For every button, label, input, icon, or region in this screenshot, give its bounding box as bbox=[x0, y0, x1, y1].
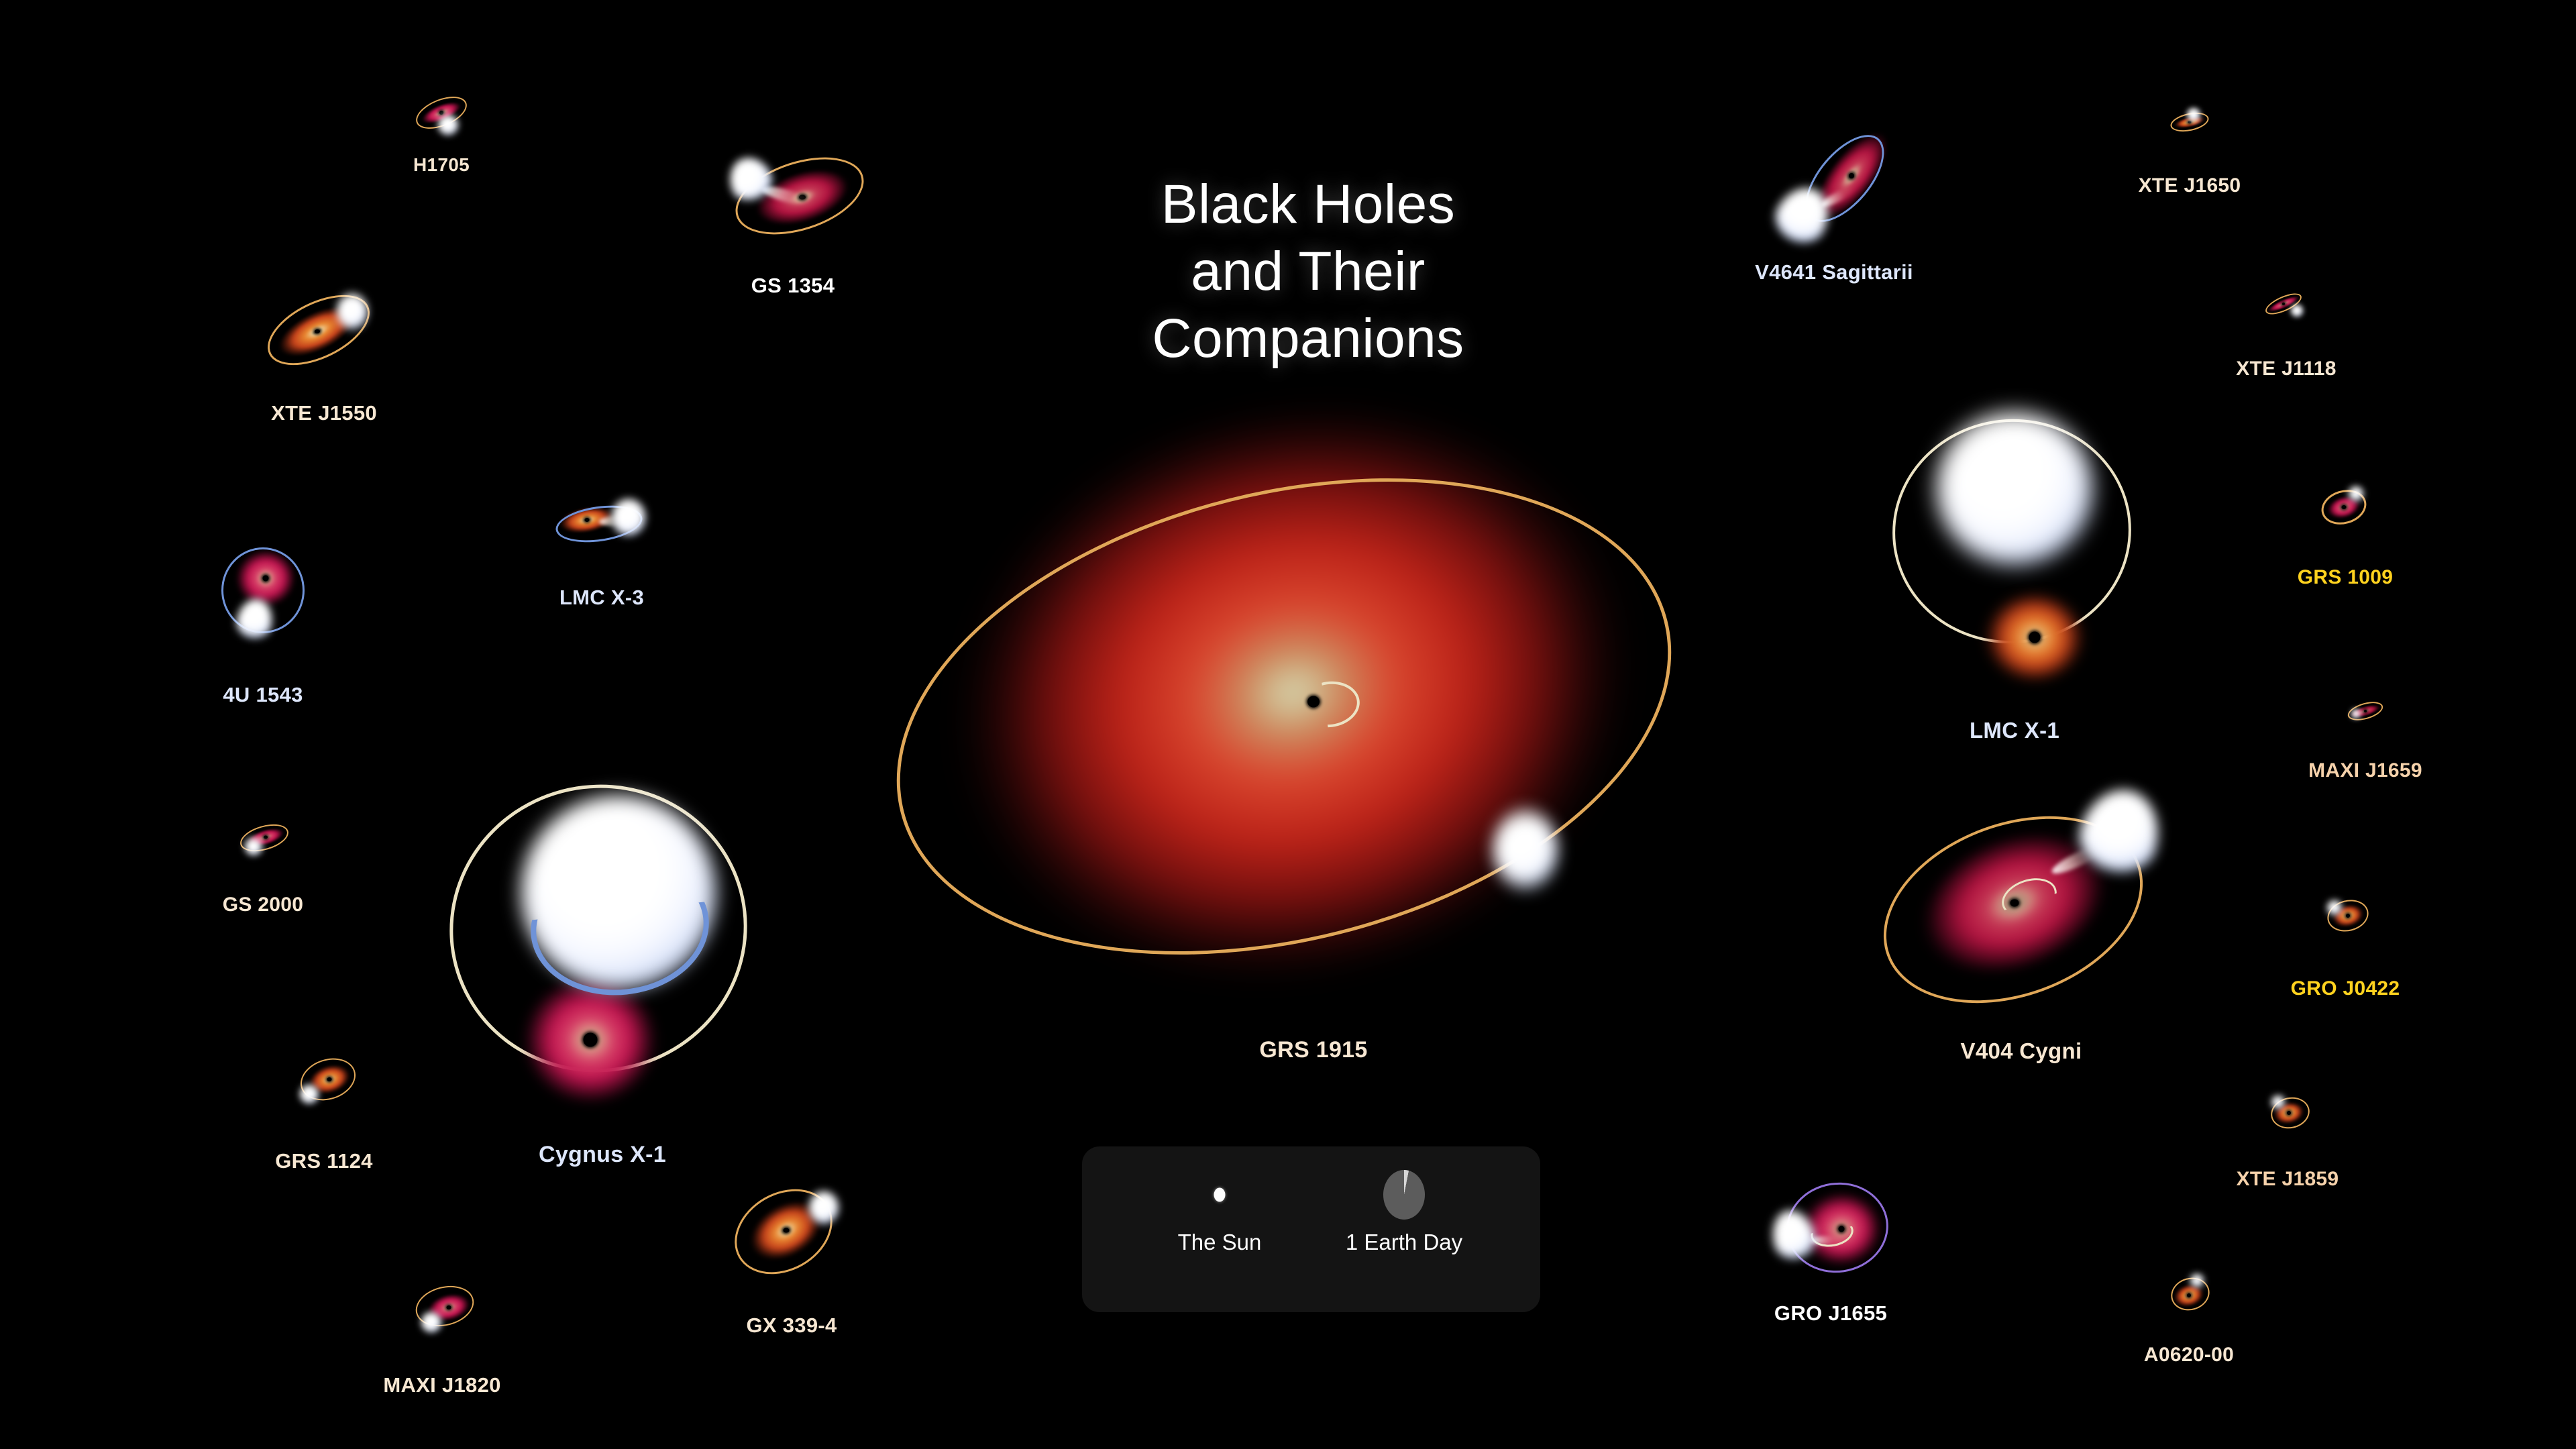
companion-star-icon bbox=[809, 1191, 839, 1224]
system-label: GRS 1124 bbox=[275, 1149, 372, 1173]
companion-star-icon bbox=[2271, 1095, 2285, 1109]
companion-star-icon bbox=[2327, 900, 2342, 915]
system-label: MAXI J1659 bbox=[2308, 759, 2422, 782]
system-label: GRO J0422 bbox=[2291, 977, 2400, 1000]
companion-star-icon bbox=[1937, 413, 2092, 564]
system-label: XTE J1859 bbox=[2237, 1168, 2339, 1191]
companion-star-icon bbox=[612, 499, 645, 535]
companion-star-icon bbox=[1493, 812, 1558, 887]
system-label: GRS 1009 bbox=[2298, 566, 2393, 589]
system-label: H1705 bbox=[413, 154, 470, 176]
orbit-ring-icon bbox=[257, 280, 380, 379]
system-label: V4641 Sagittarii bbox=[1755, 260, 1913, 284]
sun-dot-icon bbox=[1214, 1188, 1226, 1202]
legend-item-sun: The Sun bbox=[1156, 1146, 1283, 1312]
orbit-ring-icon bbox=[719, 1172, 847, 1291]
system-label: GRO J1655 bbox=[1774, 1301, 1887, 1326]
companion-star-icon bbox=[2351, 709, 2361, 718]
system-label: GS 1354 bbox=[751, 274, 835, 298]
system-label: A0620-00 bbox=[2144, 1344, 2234, 1366]
legend-label-sun: The Sun bbox=[1178, 1230, 1262, 1255]
system-label: GS 2000 bbox=[223, 894, 304, 916]
legend-item-earth-day: 1 Earth Day bbox=[1337, 1146, 1471, 1312]
starfield-canvas: Black Holes and Their Companions H1705 G… bbox=[0, 0, 2576, 1449]
black-hole-icon bbox=[584, 1033, 598, 1047]
companion-star-icon bbox=[438, 115, 458, 135]
title-line-2: and Their Companions bbox=[1033, 238, 1583, 372]
system-label: Cygnus X-1 bbox=[539, 1142, 666, 1168]
companion-star-icon bbox=[2291, 305, 2303, 317]
earth-day-pie-icon bbox=[1383, 1170, 1425, 1220]
system-label: 4U 1543 bbox=[223, 683, 303, 707]
system-label: GRS 1915 bbox=[1259, 1037, 1367, 1063]
title-line-1: Black Holes bbox=[1161, 174, 1455, 235]
page-title: Black Holes and Their Companions bbox=[1033, 171, 1583, 372]
orbit-ring-icon bbox=[846, 402, 1721, 1030]
legend-label-earth-day: 1 Earth Day bbox=[1346, 1230, 1462, 1255]
system-label: GX 339-4 bbox=[746, 1313, 837, 1338]
companion-star-icon bbox=[2190, 1274, 2204, 1287]
companion-star-icon bbox=[245, 838, 262, 855]
system-label: MAXI J1820 bbox=[383, 1373, 500, 1397]
system-label: LMC X-3 bbox=[559, 586, 644, 610]
companion-star-icon bbox=[300, 1085, 319, 1104]
black-hole-icon bbox=[2029, 632, 2041, 643]
system-label: XTE J1650 bbox=[2139, 174, 2241, 197]
companion-star-icon bbox=[2349, 486, 2363, 501]
scale-legend-panel: The Sun 1 Earth Day bbox=[1082, 1146, 1540, 1312]
system-label: LMC X-1 bbox=[1970, 718, 2059, 743]
system-label: XTE J1118 bbox=[2236, 358, 2337, 380]
companion-star-icon bbox=[337, 294, 368, 329]
system-label: V404 Cygni bbox=[1961, 1038, 2082, 1064]
system-label: XTE J1550 bbox=[271, 401, 377, 425]
companion-star-icon bbox=[421, 1312, 441, 1332]
companion-star-icon bbox=[2187, 108, 2200, 121]
